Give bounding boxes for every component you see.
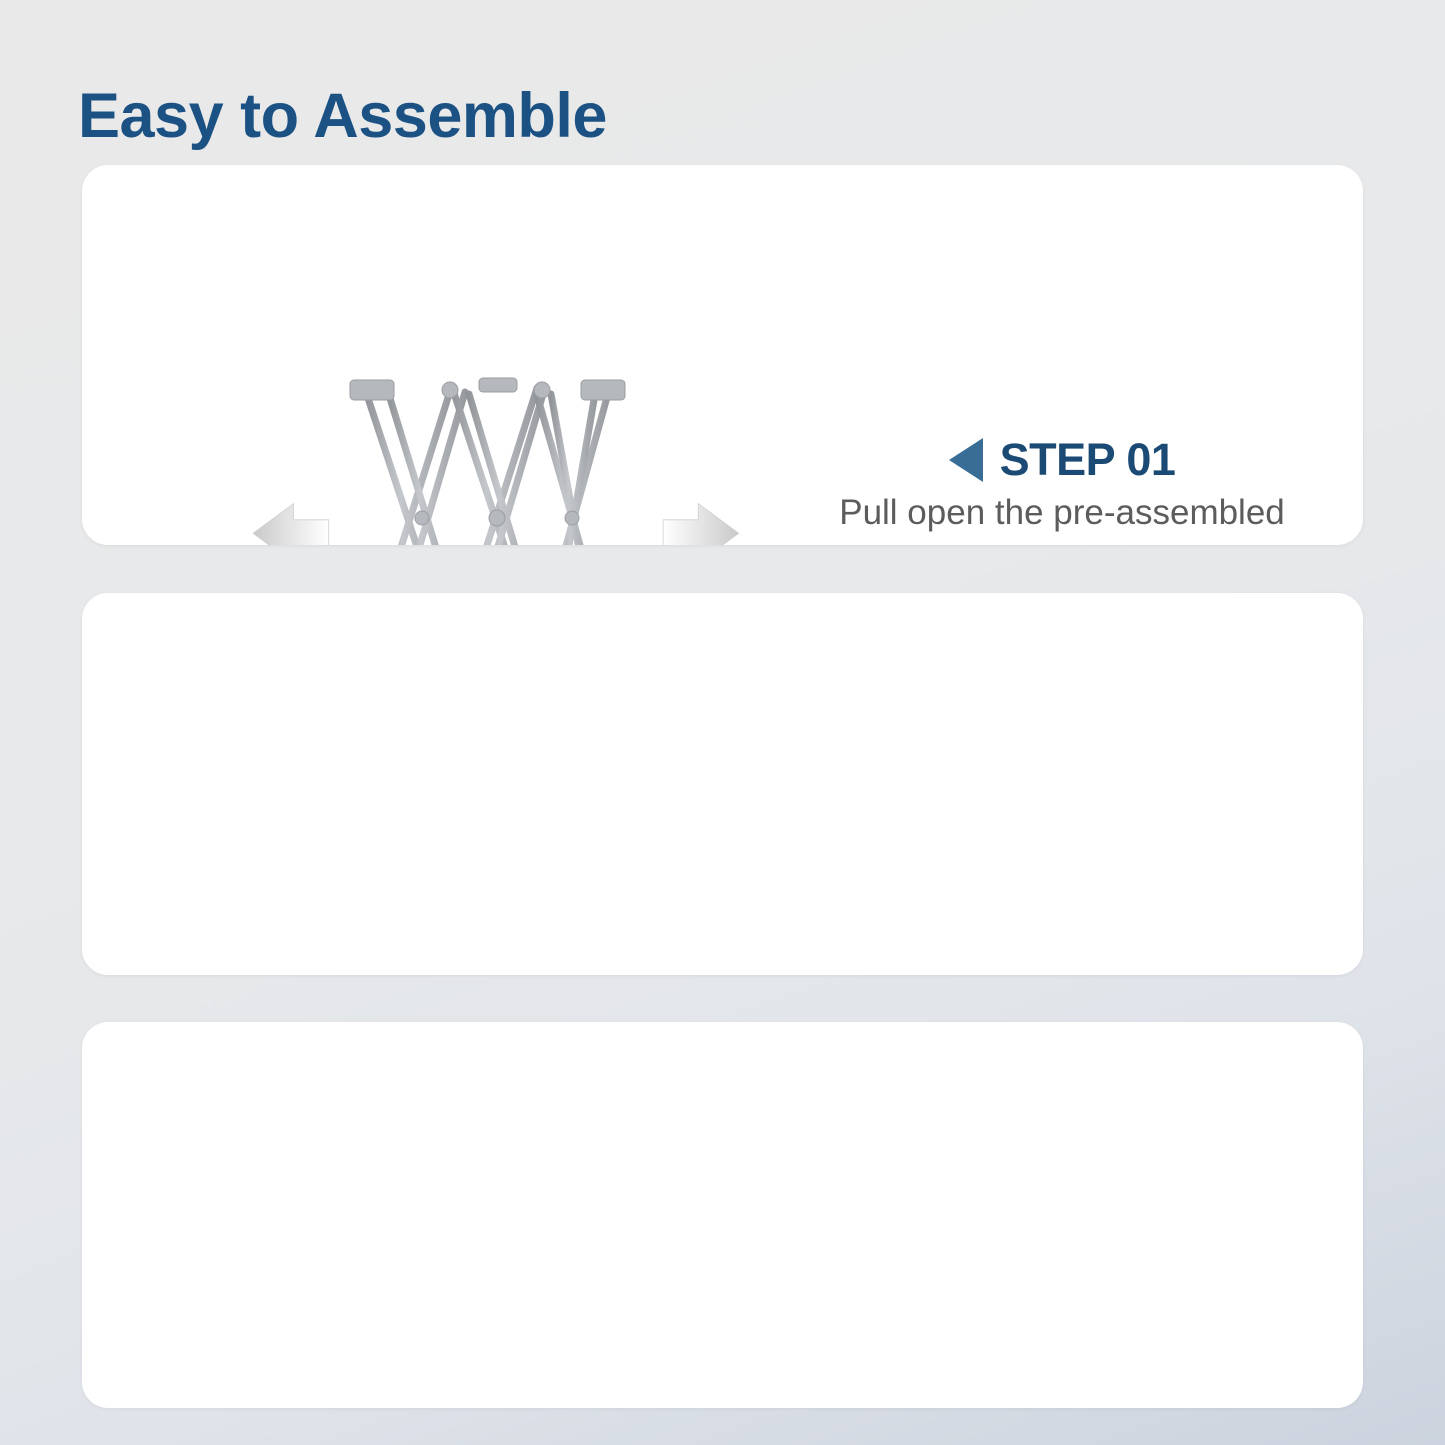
page-title: Easy to Assemble: [78, 82, 607, 151]
step-card-1: STEP 01 Pull open the pre-assembled stee…: [82, 165, 1363, 545]
step-heading-1: STEP 01: [782, 437, 1342, 482]
arrow-right-icon: [663, 504, 739, 545]
step-label-1: STEP 01: [1000, 437, 1176, 482]
step-description-1: Pull open the pre-assembled steel frame: [782, 490, 1342, 545]
infographic-page: Easy to Assemble: [0, 0, 1445, 1445]
step-text-block-1: STEP 01 Pull open the pre-assembled stee…: [782, 437, 1342, 545]
triangle-left-icon: [949, 438, 983, 482]
arrow-left-icon: [253, 504, 329, 545]
step-card-2: STEP 02 Place the fabric at the four cor…: [82, 593, 1363, 975]
folded-steel-frame-illustration: [237, 350, 757, 545]
step-card-3: STEP 03 Stretch legs, adjust height and …: [82, 1022, 1363, 1408]
